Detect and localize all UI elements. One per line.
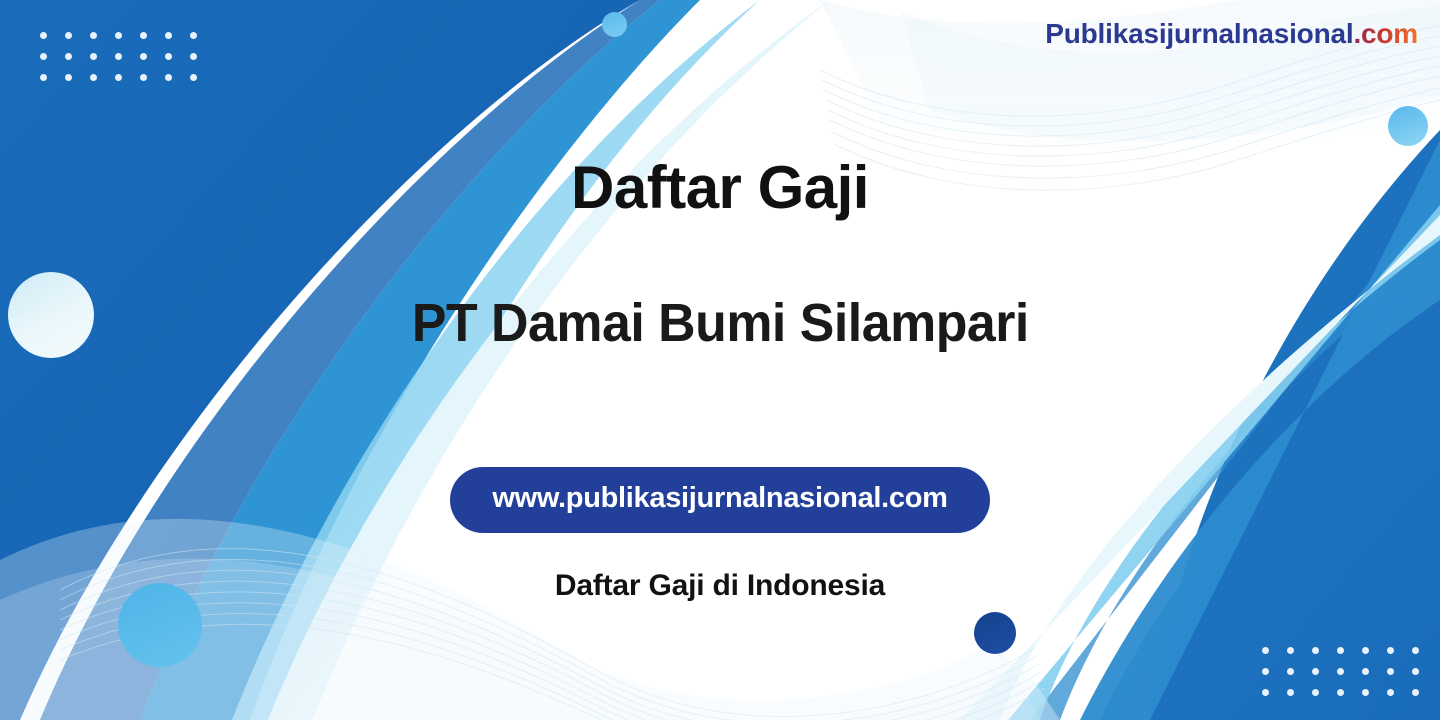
company-name: PT Damai Bumi Silampari xyxy=(411,296,1028,350)
dot xyxy=(65,53,72,60)
background-artwork xyxy=(0,0,1440,720)
site-logo[interactable]: Publikasijurnalnasional.com xyxy=(1045,18,1418,50)
dot xyxy=(1312,647,1319,654)
dot xyxy=(65,74,72,81)
dot xyxy=(140,53,147,60)
dot xyxy=(190,53,197,60)
dot xyxy=(165,32,172,39)
page-title: Daftar Gaji xyxy=(571,158,869,218)
dot xyxy=(1362,689,1369,696)
dot xyxy=(1412,647,1419,654)
dot xyxy=(40,53,47,60)
dot xyxy=(1287,668,1294,675)
dot xyxy=(1337,647,1344,654)
dot-grid-top-left xyxy=(40,32,197,81)
dot xyxy=(1412,689,1419,696)
dot xyxy=(1362,647,1369,654)
decorative-circle-navy xyxy=(974,612,1016,654)
dot xyxy=(165,74,172,81)
dot xyxy=(1312,689,1319,696)
dot xyxy=(1387,689,1394,696)
dot xyxy=(1262,668,1269,675)
dot-grid-bottom-right xyxy=(1262,647,1419,696)
dot xyxy=(1387,668,1394,675)
website-url-button[interactable]: www.publikasijurnalnasional.com xyxy=(450,467,989,533)
dot xyxy=(190,74,197,81)
decorative-circle-left-pale xyxy=(8,272,94,358)
decorative-circle-right-small xyxy=(1388,106,1428,146)
dot xyxy=(115,74,122,81)
dot xyxy=(1337,689,1344,696)
dot xyxy=(1337,668,1344,675)
dot xyxy=(90,32,97,39)
dot xyxy=(1412,668,1419,675)
dot xyxy=(165,53,172,60)
banner-content: Publikasijurnalnasional.com Daftar Gaji … xyxy=(0,0,1440,720)
dot xyxy=(1262,689,1269,696)
dot xyxy=(1362,668,1369,675)
site-logo-name: Publikasijurnalnasional xyxy=(1045,18,1353,49)
dot xyxy=(1312,668,1319,675)
dot xyxy=(1262,647,1269,654)
dot xyxy=(140,32,147,39)
promo-banner: Publikasijurnalnasional.com Daftar Gaji … xyxy=(0,0,1440,720)
dot xyxy=(1287,689,1294,696)
dot xyxy=(140,74,147,81)
dot xyxy=(190,32,197,39)
dot xyxy=(115,32,122,39)
dot xyxy=(65,32,72,39)
dot xyxy=(40,32,47,39)
dot xyxy=(90,53,97,60)
site-logo-tld: .com xyxy=(1353,18,1418,49)
dot xyxy=(1387,647,1394,654)
dot xyxy=(90,74,97,81)
dot xyxy=(40,74,47,81)
dot xyxy=(1287,647,1294,654)
wave-bands xyxy=(0,0,1440,720)
decorative-circle-top-small xyxy=(602,12,627,37)
right-wedge-stack xyxy=(960,130,1440,720)
dot xyxy=(115,53,122,60)
contour-lines xyxy=(60,26,1440,720)
tagline: Daftar Gaji di Indonesia xyxy=(555,569,885,603)
decorative-circle-left-blue xyxy=(118,583,202,667)
